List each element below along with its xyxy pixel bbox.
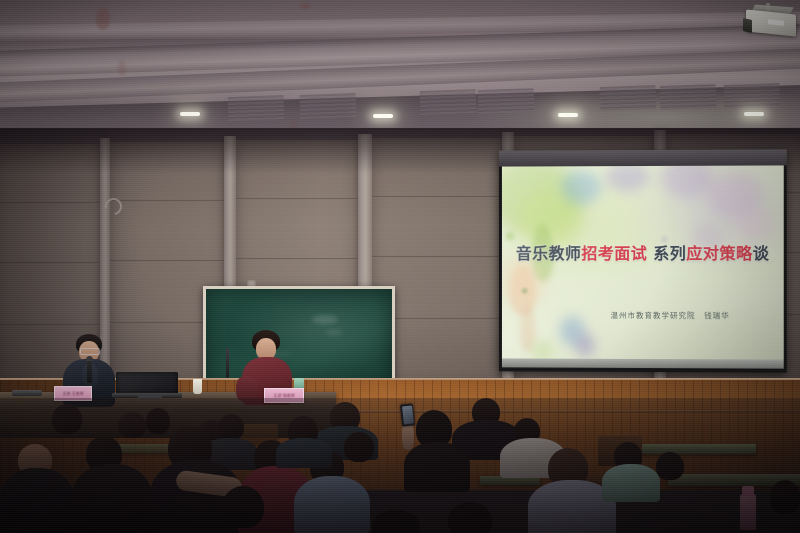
audience-shading <box>0 398 800 533</box>
screen-bottom-band <box>502 358 784 368</box>
slide-speck <box>506 232 514 240</box>
slide-title-part: 系列 <box>647 244 686 263</box>
slide-blob-purple <box>605 165 649 192</box>
ceiling <box>0 0 800 132</box>
speaker-left-glasses-icon <box>80 348 100 355</box>
ceiling-downlight <box>558 113 578 117</box>
slide-blob-green <box>532 342 554 360</box>
ceiling-downlight <box>373 114 393 118</box>
laptop-screen[interactable] <box>116 372 178 394</box>
slide-blob-purple <box>661 165 713 198</box>
slide-title-part: 音乐教师 <box>516 244 581 263</box>
ceiling-vent <box>300 93 357 119</box>
ceiling-stain <box>96 8 110 30</box>
projector-lens-icon <box>743 18 752 33</box>
slide-blob-blue <box>561 170 601 204</box>
ceiling-vent <box>724 83 781 109</box>
ceiling-stain <box>300 3 310 9</box>
ceiling-vent <box>600 85 657 111</box>
slide-title-part: 招考面试 <box>581 244 647 263</box>
microphone <box>87 361 92 383</box>
ceiling-downlight <box>744 112 764 116</box>
ceiling-stain <box>118 60 126 76</box>
ceiling-vent <box>228 95 285 121</box>
desk-item <box>12 390 42 396</box>
slide-title-part: 应对策略 <box>686 244 752 263</box>
table-microphone <box>226 348 229 378</box>
presentation-slide: 音乐教师招考面试 系列应对策略谈 温州市教育教学研究院 钱瑞华 <box>502 165 784 360</box>
slide-title: 音乐教师招考面试 系列应对策略谈 <box>502 240 784 264</box>
ceiling-projector <box>742 6 798 36</box>
name-placard-left-text: 主持 王老师 <box>62 391 83 397</box>
slide-blob-pink <box>733 208 775 242</box>
ceiling-vent <box>420 89 477 115</box>
slide-blob-purple <box>575 334 595 358</box>
slide-subtitle: 温州市教育教学研究院 钱瑞华 <box>502 310 784 322</box>
slide-title-part: 谈 <box>753 244 770 263</box>
projection-screen: 音乐教师招考面试 系列应对策略谈 温州市教育教学研究院 钱瑞华 <box>499 149 787 372</box>
audience-area <box>0 398 800 533</box>
chalkboard <box>203 286 395 390</box>
ceiling-vent <box>660 84 717 110</box>
ceiling-downlight <box>180 112 200 116</box>
lecture-hall-photo: 音乐教师招考面试 系列应对策略谈 温州市教育教学研究院 钱瑞华 主持 王老师 <box>0 0 800 533</box>
ceiling-vent <box>478 88 535 114</box>
screen-top-bar <box>499 149 787 166</box>
paper-cup <box>193 379 202 394</box>
slide-speck <box>522 288 528 294</box>
